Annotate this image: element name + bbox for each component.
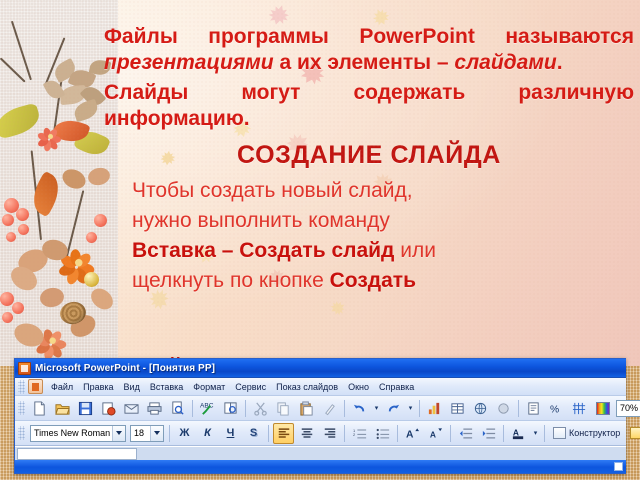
menu-item-file[interactable]: Файл	[46, 381, 78, 393]
menu-item-view[interactable]: Вид	[119, 381, 145, 393]
formatting-toolbar-grip[interactable]	[18, 426, 25, 440]
email-icon[interactable]	[121, 398, 142, 419]
copy-icon[interactable]	[273, 398, 294, 419]
underline-button[interactable]: Ч	[220, 423, 241, 444]
standard-toolbar: ABC ▾	[15, 396, 626, 421]
paragraph-1: Файлы программы PowerPoint называются пр…	[104, 24, 634, 76]
paragraph-1-seg-2: презентациями	[104, 51, 274, 74]
body-line-4-plain: щелкнуть по кнопке	[132, 269, 330, 292]
document-icon[interactable]	[28, 379, 43, 394]
body-line-1: Чтобы создать новый слайд,	[132, 176, 634, 206]
standard-toolbar-grip[interactable]	[18, 401, 25, 415]
shadow-button[interactable]: S	[243, 423, 264, 444]
slide-heading: СОЗДАНИЕ СЛАЙДА	[104, 138, 634, 172]
zoom-combo[interactable]: 70%	[616, 400, 640, 417]
font-color-icon[interactable]: A	[508, 423, 529, 444]
new-document-icon[interactable]	[29, 398, 50, 419]
menu-bar: Файл Правка Вид Вставка Формат Сервис По…	[15, 378, 626, 396]
promote-icon[interactable]	[455, 423, 476, 444]
grid-icon[interactable]	[569, 398, 590, 419]
open-folder-icon[interactable]	[52, 398, 73, 419]
paragraph-1-seg-5: .	[557, 51, 563, 74]
gold-bead-icon	[84, 272, 99, 287]
design-button[interactable]: Конструктор	[548, 424, 625, 443]
font-name-combo[interactable]: Times New Roman	[30, 425, 126, 442]
menu-item-edit[interactable]: Правка	[78, 381, 118, 393]
hyperlink-icon[interactable]	[470, 398, 491, 419]
formatting-toolbar: Times New Roman 18 Ж К Ч S	[15, 421, 626, 446]
new-slide-button[interactable]: Создать слайд	[625, 424, 640, 443]
body-line-3-bold: Вставка – Создать слайд	[132, 239, 394, 262]
zoom-value: 70%	[620, 403, 640, 413]
show-formatting-icon[interactable]	[523, 398, 544, 419]
redo-icon[interactable]	[383, 398, 404, 419]
body-line-3: Вставка – Создать слайд или	[132, 236, 634, 266]
powerpoint-workspace[interactable]	[15, 446, 626, 460]
window-title-app: Microsoft PowerPoint	[35, 363, 140, 374]
save-disk-icon[interactable]	[75, 398, 96, 419]
floral-decoration	[0, 0, 118, 366]
font-color-dropdown-icon[interactable]: ▾	[531, 423, 540, 444]
menu-item-slideshow[interactable]: Показ слайдов	[271, 381, 343, 393]
new-slide-icon	[630, 427, 640, 439]
cut-scissors-icon[interactable]	[250, 398, 271, 419]
menu-item-window[interactable]: Окно	[343, 381, 374, 393]
spellcheck-icon[interactable]: ABC	[197, 398, 218, 419]
maple-leaf-icon	[327, 297, 348, 318]
slide-text-body: Файлы программы PowerPoint называются пр…	[104, 24, 634, 296]
paste-icon[interactable]	[296, 398, 317, 419]
window-titlebar[interactable]: Microsoft PowerPoint - [Понятия PP]	[15, 359, 626, 378]
menu-item-help[interactable]: Справка	[374, 381, 419, 393]
insert-chart-icon[interactable]	[424, 398, 445, 419]
menu-item-format[interactable]: Формат	[188, 381, 230, 393]
demote-icon[interactable]	[478, 423, 499, 444]
bold-glyph: Ж	[180, 428, 190, 439]
paragraph-1-seg-3: а их элементы –	[274, 51, 455, 74]
menu-item-insert[interactable]: Вставка	[145, 381, 188, 393]
shadow-glyph: S	[250, 428, 257, 439]
powerpoint-window: Microsoft PowerPoint - [Понятия PP] Файл…	[14, 358, 626, 474]
resize-grip[interactable]	[614, 462, 623, 471]
align-left-icon[interactable]	[273, 423, 294, 444]
bold-button[interactable]: Ж	[174, 423, 195, 444]
body-line-4-bold: Создать	[330, 269, 416, 292]
body-line-4: щелкнуть по кнопке Создать	[132, 266, 634, 296]
italic-button[interactable]: К	[197, 423, 218, 444]
redo-dropdown-icon[interactable]: ▾	[406, 398, 415, 419]
permission-icon[interactable]	[98, 398, 119, 419]
font-name-dropdown-arrow[interactable]	[112, 426, 125, 441]
undo-dropdown-icon[interactable]: ▾	[372, 398, 381, 419]
paragraph-2: Слайды могут содержать различную информа…	[104, 80, 634, 132]
svg-text:A: A	[430, 430, 436, 440]
print-preview-icon[interactable]	[167, 398, 188, 419]
paragraph-1-seg-1: Файлы программы PowerPoint называются	[104, 25, 634, 48]
numbered-list-icon[interactable]: 12	[349, 423, 370, 444]
svg-text:A: A	[406, 430, 414, 440]
design-icon	[553, 427, 566, 439]
window-bottom-strip	[15, 460, 626, 473]
format-painter-icon[interactable]	[319, 398, 340, 419]
powerpoint-app-icon	[18, 362, 31, 375]
svg-text:%: %	[550, 404, 559, 415]
align-right-icon[interactable]	[319, 423, 340, 444]
outline-pane[interactable]	[17, 448, 137, 460]
body-line-3-tail: или	[394, 239, 436, 262]
undo-icon[interactable]	[349, 398, 370, 419]
font-size-value: 18	[134, 428, 150, 438]
align-center-icon[interactable]	[296, 423, 317, 444]
slide-body-block: Чтобы создать новый слайд, нужно выполни…	[104, 176, 634, 296]
menubar-grip[interactable]	[18, 380, 25, 394]
svg-text:A: A	[513, 427, 519, 437]
window-title: Microsoft PowerPoint - [Понятия PP]	[35, 363, 215, 374]
window-title-document: - [Понятия PP]	[140, 363, 215, 374]
body-line-2: нужно выполнить команду	[132, 206, 634, 236]
svg-text:2: 2	[353, 432, 355, 437]
slide-canvas: Файлы программы PowerPoint называются пр…	[0, 0, 640, 366]
font-name-value: Times New Roman	[34, 428, 112, 438]
menu-item-tools[interactable]: Сервис	[230, 381, 271, 393]
print-icon[interactable]	[144, 398, 165, 419]
font-size-dropdown-arrow[interactable]	[150, 426, 163, 441]
font-size-combo[interactable]: 18	[130, 425, 164, 442]
paragraph-1-seg-4: слайдами	[454, 51, 556, 74]
color-palette-icon[interactable]	[592, 398, 613, 419]
grayscale-icon[interactable]: %	[546, 398, 567, 419]
insert-table-icon[interactable]	[447, 398, 468, 419]
bulleted-list-icon[interactable]	[372, 423, 393, 444]
italic-glyph: К	[204, 428, 211, 439]
increase-font-size-icon[interactable]: A	[402, 423, 423, 444]
design-button-label: Конструктор	[569, 428, 620, 438]
research-icon[interactable]	[220, 398, 241, 419]
expand-icon[interactable]	[493, 398, 514, 419]
underline-glyph: Ч	[227, 428, 235, 439]
decrease-font-size-icon[interactable]: A	[425, 423, 446, 444]
presentation-slide: Файлы программы PowerPoint называются пр…	[0, 0, 640, 480]
